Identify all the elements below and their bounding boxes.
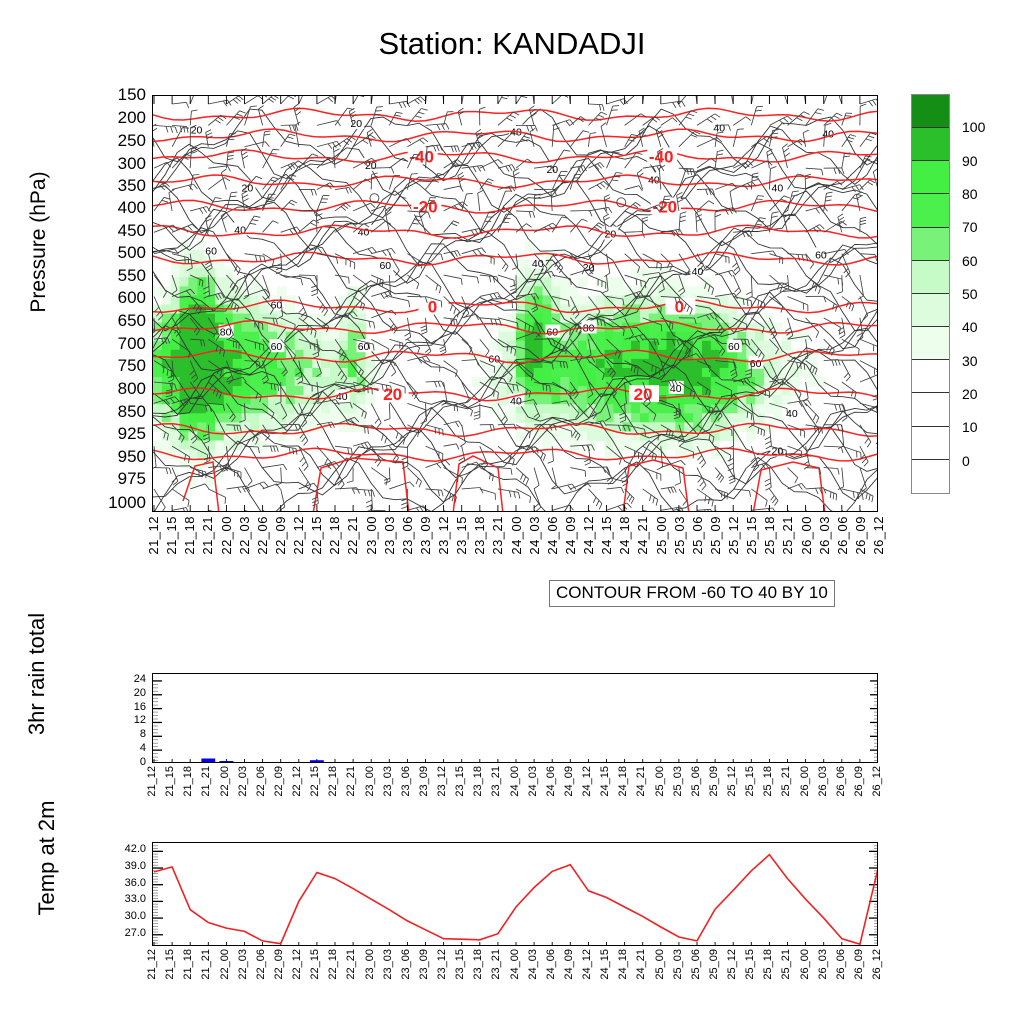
main-y-tick-750: 750: [118, 357, 146, 374]
svg-text:60: 60: [379, 260, 391, 272]
temp-x-tick-23_12: 23_12: [437, 949, 448, 980]
main-x-tick-21_12: 21_12: [147, 516, 160, 555]
svg-text:60: 60: [728, 341, 740, 353]
rain-x-tick-24_12: 24_12: [582, 766, 593, 797]
rain-x-tick-24_06: 24_06: [546, 766, 557, 797]
main-x-tick-22_03: 22_03: [238, 516, 251, 555]
temp-x-tick-24_09: 24_09: [564, 949, 575, 980]
rain-y-axis-labels: 24201612840: [92, 673, 146, 763]
colorbar-labels: 1009080706050403020100: [962, 94, 1022, 494]
rain-x-tick-22_06: 22_06: [256, 766, 267, 797]
rain-x-tick-25_03: 25_03: [673, 766, 684, 797]
main-x-tick-26_09: 26_09: [854, 516, 867, 555]
main-y-axis-labels: 1502002503003504004505005506006507007508…: [40, 95, 146, 512]
rain-x-tick-22_12: 22_12: [292, 766, 303, 797]
colorbar-label-70: 70: [962, 220, 978, 234]
main-x-tick-26_03: 26_03: [818, 516, 831, 555]
temp-y-axis-labels: 42.039.036.033.030.027.0: [86, 842, 146, 946]
temp-x-tick-25_00: 25_00: [655, 949, 666, 980]
main-y-tick-800: 800: [118, 380, 146, 397]
svg-text:20: 20: [383, 385, 402, 404]
rain-y-tick-12: 12: [134, 715, 146, 726]
main-x-tick-23_06: 23_06: [401, 516, 414, 555]
temp-x-tick-23_00: 23_00: [365, 949, 376, 980]
temp-x-tick-23_21: 23_21: [491, 949, 502, 980]
temp-x-tick-26_06: 26_06: [836, 949, 847, 980]
rain-x-tick-24_15: 24_15: [600, 766, 611, 797]
colorbar-label-30: 30: [962, 354, 978, 368]
main-x-tick-25_09: 25_09: [709, 516, 722, 555]
colorbar-cell-8[interactable]: [912, 360, 949, 393]
main-x-tick-25_18: 25_18: [763, 516, 776, 555]
main-x-tick-22_09: 22_09: [274, 516, 287, 555]
temp-x-tick-23_03: 23_03: [383, 949, 394, 980]
main-x-tick-25_06: 25_06: [691, 516, 704, 555]
colorbar-cell-4[interactable]: [912, 228, 949, 261]
svg-text:60: 60: [205, 245, 217, 257]
main-y-tick-975: 975: [118, 470, 146, 487]
main-y-tick-925: 925: [118, 425, 146, 442]
temp-x-tick-22_21: 22_21: [346, 949, 357, 980]
temp-panel-title: Temp at 2m: [34, 763, 60, 953]
main-x-tick-21_15: 21_15: [165, 516, 178, 555]
colorbar-cell-6[interactable]: [912, 294, 949, 327]
temp-x-tick-25_03: 25_03: [673, 949, 684, 980]
main-y-tick-200: 200: [118, 109, 146, 126]
rain-x-tick-22_21: 22_21: [346, 766, 357, 797]
temp-x-tick-21_12: 21_12: [147, 949, 158, 980]
main-x-tick-22_18: 22_18: [328, 516, 341, 555]
rain-x-tick-22_00: 22_00: [220, 766, 231, 797]
temp-x-tick-22_18: 22_18: [328, 949, 339, 980]
temp-x-tick-22_00: 22_00: [220, 949, 231, 980]
colorbar-label-10: 10: [962, 420, 978, 434]
colorbar[interactable]: [911, 94, 950, 494]
rain-y-tick-16: 16: [134, 702, 146, 713]
main-y-tick-400: 400: [118, 199, 146, 216]
svg-text:40: 40: [532, 258, 544, 270]
main-x-tick-25_21: 25_21: [781, 516, 794, 555]
main-x-tick-24_21: 24_21: [636, 516, 649, 555]
temp-x-tick-22_03: 22_03: [238, 949, 249, 980]
rain-x-tick-25_09: 25_09: [709, 766, 720, 797]
time-height-cross-section-plot[interactable]: 2020404040202020404040402040206060604060…: [152, 95, 878, 512]
temp-x-tick-25_06: 25_06: [691, 949, 702, 980]
main-x-axis-labels: 21_1221_1521_1821_2122_0022_0322_0622_09…: [152, 516, 878, 578]
main-x-tick-22_12: 22_12: [292, 516, 305, 555]
temp-x-tick-21_21: 21_21: [201, 949, 212, 980]
rain-y-tick-8: 8: [140, 729, 146, 740]
rain-y-tick-4: 4: [140, 743, 146, 754]
rain-x-tick-23_18: 23_18: [473, 766, 484, 797]
main-x-tick-21_18: 21_18: [183, 516, 196, 555]
colorbar-cell-2[interactable]: [912, 161, 949, 194]
main-x-tick-23_12: 23_12: [437, 516, 450, 555]
colorbar-cell-10[interactable]: [912, 427, 949, 460]
svg-text:20: 20: [350, 118, 362, 130]
temp-x-tick-23_15: 23_15: [455, 949, 466, 980]
temp-x-tick-25_09: 25_09: [709, 949, 720, 980]
temp-x-tick-24_15: 24_15: [600, 949, 611, 980]
main-x-tick-26_00: 26_00: [800, 516, 813, 555]
svg-text:20: 20: [546, 164, 558, 176]
temp-x-tick-24_18: 24_18: [618, 949, 629, 980]
main-x-tick-24_09: 24_09: [564, 516, 577, 555]
main-x-tick-25_12: 25_12: [727, 516, 740, 555]
rain-x-tick-22_15: 22_15: [310, 766, 321, 797]
main-x-tick-23_03: 23_03: [383, 516, 396, 555]
svg-text:0: 0: [428, 298, 437, 317]
rain-x-tick-26_03: 26_03: [818, 766, 829, 797]
temp-x-tick-22_06: 22_06: [256, 949, 267, 980]
main-x-tick-22_15: 22_15: [310, 516, 323, 555]
temp-x-tick-22_15: 22_15: [310, 949, 321, 980]
rain-x-tick-23_09: 23_09: [419, 766, 430, 797]
rain-x-tick-21_18: 21_18: [183, 766, 194, 797]
temp-x-tick-23_18: 23_18: [473, 949, 484, 980]
main-x-tick-23_09: 23_09: [419, 516, 432, 555]
main-x-tick-22_06: 22_06: [256, 516, 269, 555]
temp-x-tick-21_18: 21_18: [183, 949, 194, 980]
rain-x-tick-23_12: 23_12: [437, 766, 448, 797]
temp-x-tick-24_21: 24_21: [636, 949, 647, 980]
svg-text:40: 40: [772, 183, 784, 195]
rain-plot-svg: [153, 674, 878, 763]
rain-x-tick-22_03: 22_03: [238, 766, 249, 797]
svg-text:-40: -40: [649, 147, 674, 166]
temp-x-tick-26_09: 26_09: [854, 949, 865, 980]
rain-x-tick-25_18: 25_18: [763, 766, 774, 797]
rain-x-tick-26_06: 26_06: [836, 766, 847, 797]
main-x-tick-22_21: 22_21: [346, 516, 359, 555]
rain-y-tick-24: 24: [134, 674, 146, 685]
rain-x-tick-26_00: 26_00: [800, 766, 811, 797]
rain-x-tick-23_00: 23_00: [365, 766, 376, 797]
main-y-tick-250: 250: [118, 132, 146, 149]
main-x-tick-23_18: 23_18: [473, 516, 486, 555]
contour-legend-box: CONTOUR FROM -60 TO 40 BY 10: [549, 580, 835, 607]
temp-y-tick-33.0: 33.0: [125, 894, 146, 905]
main-x-tick-22_00: 22_00: [220, 516, 233, 555]
main-y-tick-700: 700: [118, 335, 146, 352]
rain-x-tick-24_00: 24_00: [510, 766, 521, 797]
main-x-tick-25_03: 25_03: [673, 516, 686, 555]
colorbar-cell-5[interactable]: [912, 261, 949, 294]
main-y-tick-650: 650: [118, 312, 146, 329]
temp-x-tick-24_00: 24_00: [510, 949, 521, 980]
main-y-tick-950: 950: [118, 448, 146, 465]
rain-x-tick-22_09: 22_09: [274, 766, 285, 797]
page-title: Station: KANDADJI: [0, 26, 1024, 62]
rain-x-tick-24_18: 24_18: [618, 766, 629, 797]
rain-x-tick-22_18: 22_18: [328, 766, 339, 797]
main-y-tick-500: 500: [118, 244, 146, 261]
rain-x-tick-21_15: 21_15: [165, 766, 176, 797]
temp-y-tick-27.0: 27.0: [125, 928, 146, 939]
rain-y-tick-20: 20: [134, 688, 146, 699]
colorbar-cell-1[interactable]: [912, 128, 949, 161]
main-x-tick-24_15: 24_15: [600, 516, 613, 555]
main-x-tick-25_00: 25_00: [655, 516, 668, 555]
svg-text:60: 60: [271, 300, 283, 312]
rain-x-tick-25_12: 25_12: [727, 766, 738, 797]
colorbar-label-50: 50: [962, 287, 978, 301]
temp-y-tick-39.0: 39.0: [125, 861, 146, 872]
temp-x-tick-22_12: 22_12: [292, 949, 303, 980]
svg-text:80: 80: [220, 327, 232, 339]
main-y-tick-1000: 1000: [108, 494, 146, 511]
main-x-tick-21_21: 21_21: [201, 516, 214, 555]
colorbar-label-100: 100: [962, 120, 985, 134]
colorbar-cell-0[interactable]: [912, 95, 949, 128]
main-x-tick-23_21: 23_21: [491, 516, 504, 555]
rain-x-tick-25_21: 25_21: [781, 766, 792, 797]
temp-plot-svg: [153, 843, 878, 946]
temp-y-tick-42.0: 42.0: [125, 844, 146, 855]
main-x-tick-24_00: 24_00: [510, 516, 523, 555]
main-x-tick-24_12: 24_12: [582, 516, 595, 555]
temp-x-tick-25_21: 25_21: [781, 949, 792, 980]
temp-x-tick-24_12: 24_12: [582, 949, 593, 980]
rain-x-tick-24_21: 24_21: [636, 766, 647, 797]
rain-x-tick-26_09: 26_09: [854, 766, 865, 797]
temp-x-tick-26_03: 26_03: [818, 949, 829, 980]
main-y-tick-350: 350: [118, 177, 146, 194]
main-x-tick-25_15: 25_15: [745, 516, 758, 555]
main-x-tick-26_12: 26_12: [872, 516, 885, 555]
temp-x-tick-24_03: 24_03: [528, 949, 539, 980]
rain-x-tick-23_15: 23_15: [455, 766, 466, 797]
temp-x-tick-24_06: 24_06: [546, 949, 557, 980]
colorbar-cell-11[interactable]: [912, 460, 949, 493]
main-x-tick-24_03: 24_03: [528, 516, 541, 555]
rain-x-axis-labels: 21_1221_1521_1821_2122_0022_0322_0622_09…: [152, 766, 878, 821]
main-y-tick-600: 600: [118, 289, 146, 306]
rain-x-tick-24_03: 24_03: [528, 766, 539, 797]
rain-x-tick-26_12: 26_12: [872, 766, 883, 797]
colorbar-cell-9[interactable]: [912, 393, 949, 426]
colorbar-label-0: 0: [962, 454, 970, 468]
svg-text:60: 60: [271, 341, 283, 353]
colorbar-label-80: 80: [962, 187, 978, 201]
rain-x-tick-25_06: 25_06: [691, 766, 702, 797]
temp-x-tick-25_15: 25_15: [745, 949, 756, 980]
rain-x-tick-23_06: 23_06: [401, 766, 412, 797]
main-x-tick-24_06: 24_06: [546, 516, 559, 555]
rain-x-tick-25_00: 25_00: [655, 766, 666, 797]
rain-total-plot[interactable]: [152, 673, 878, 763]
rain-x-tick-23_03: 23_03: [383, 766, 394, 797]
temp-x-tick-25_12: 25_12: [727, 949, 738, 980]
temp-y-tick-36.0: 36.0: [125, 878, 146, 889]
rain-x-tick-23_21: 23_21: [491, 766, 502, 797]
temp-y-tick-30.0: 30.0: [125, 911, 146, 922]
temp-x-tick-26_12: 26_12: [872, 949, 883, 980]
temp-x-tick-23_06: 23_06: [401, 949, 412, 980]
colorbar-cell-3[interactable]: [912, 194, 949, 227]
rain-x-tick-24_09: 24_09: [564, 766, 575, 797]
svg-text:20: 20: [191, 124, 203, 136]
temp-at-2m-plot[interactable]: [152, 842, 878, 946]
main-x-tick-24_18: 24_18: [618, 516, 631, 555]
main-y-tick-300: 300: [118, 155, 146, 172]
temp-x-tick-23_09: 23_09: [419, 949, 430, 980]
main-x-tick-23_15: 23_15: [455, 516, 468, 555]
temp-x-tick-22_09: 22_09: [274, 949, 285, 980]
colorbar-label-90: 90: [962, 154, 978, 168]
main-x-tick-26_06: 26_06: [836, 516, 849, 555]
temp-x-tick-26_00: 26_00: [800, 949, 811, 980]
main-y-tick-850: 850: [118, 403, 146, 420]
colorbar-label-20: 20: [962, 387, 978, 401]
main-plot-svg: 2020404040202020404040402040206060604060…: [153, 96, 878, 512]
main-y-tick-150: 150: [118, 86, 146, 103]
colorbar-label-40: 40: [962, 320, 978, 334]
colorbar-label-60: 60: [962, 254, 978, 268]
rain-panel-title: 3hr rain total: [24, 579, 50, 769]
temp-x-axis-labels: 21_1221_1521_1821_2122_0022_0322_0622_09…: [152, 949, 878, 1004]
rain-x-tick-21_12: 21_12: [147, 766, 158, 797]
colorbar-cell-7[interactable]: [912, 327, 949, 360]
main-y-tick-450: 450: [118, 222, 146, 239]
temp-x-tick-21_15: 21_15: [165, 949, 176, 980]
temp-x-tick-25_18: 25_18: [763, 949, 774, 980]
svg-text:60: 60: [815, 249, 827, 261]
rain-x-tick-25_15: 25_15: [745, 766, 756, 797]
main-x-tick-23_00: 23_00: [365, 516, 378, 555]
rain-x-tick-21_21: 21_21: [201, 766, 212, 797]
main-y-tick-550: 550: [118, 267, 146, 284]
svg-text:40: 40: [670, 383, 682, 395]
